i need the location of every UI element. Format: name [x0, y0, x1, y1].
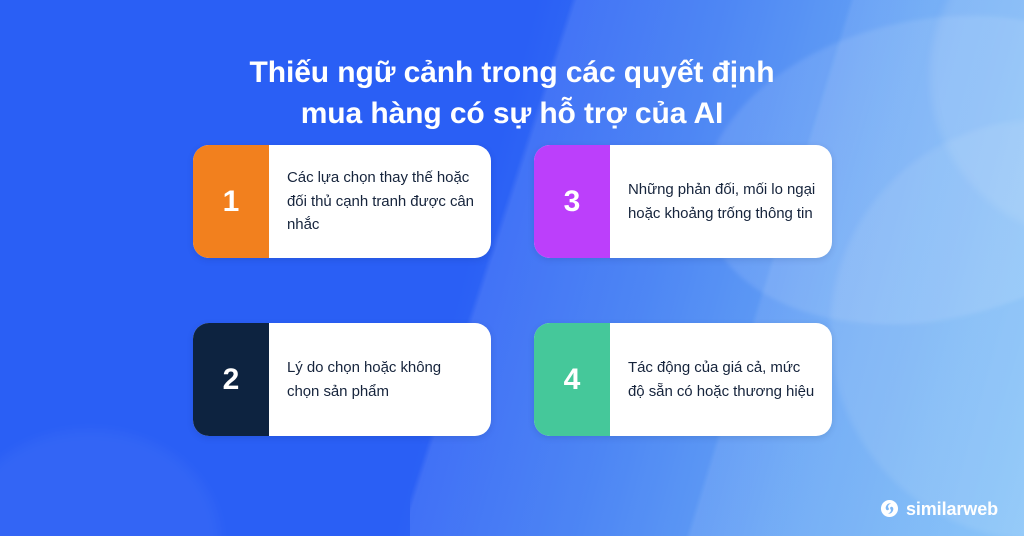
card-number-badge: 2 [193, 323, 269, 436]
list-item: 2 Lý do chọn hoặc không chọn sản phẩm [193, 323, 491, 436]
card-text: Các lựa chọn thay thế hoặc đối thủ cạnh … [269, 145, 491, 258]
card-text: Lý do chọn hoặc không chọn sản phẩm [269, 323, 491, 436]
card-number-badge: 3 [534, 145, 610, 258]
similarweb-logo: similarweb [880, 499, 998, 518]
card-number-badge: 1 [193, 145, 269, 258]
similarweb-wordmark: similarweb [906, 500, 998, 518]
infographic-canvas: Thiếu ngữ cảnh trong các quyết định mua … [0, 0, 1024, 536]
page-title-line-2: mua hàng có sự hỗ trợ của AI [120, 93, 904, 134]
card-text: Tác động của giá cả, mức độ sẵn có hoặc … [610, 323, 832, 436]
card-number-badge: 4 [534, 323, 610, 436]
list-item: 1 Các lựa chọn thay thế hoặc đối thủ cạn… [193, 145, 491, 258]
similarweb-swirl-icon [880, 499, 899, 518]
list-item: 3 Những phản đối, mối lo ngại hoặc khoản… [534, 145, 832, 258]
list-item: 4 Tác động của giá cả, mức độ sẵn có hoặ… [534, 323, 832, 436]
card-text: Những phản đối, mối lo ngại hoặc khoảng … [610, 145, 832, 258]
page-title: Thiếu ngữ cảnh trong các quyết định mua … [0, 52, 1024, 135]
page-title-line-1: Thiếu ngữ cảnh trong các quyết định [120, 52, 904, 93]
card-grid: 1 Các lựa chọn thay thế hoặc đối thủ cạn… [193, 145, 833, 436]
